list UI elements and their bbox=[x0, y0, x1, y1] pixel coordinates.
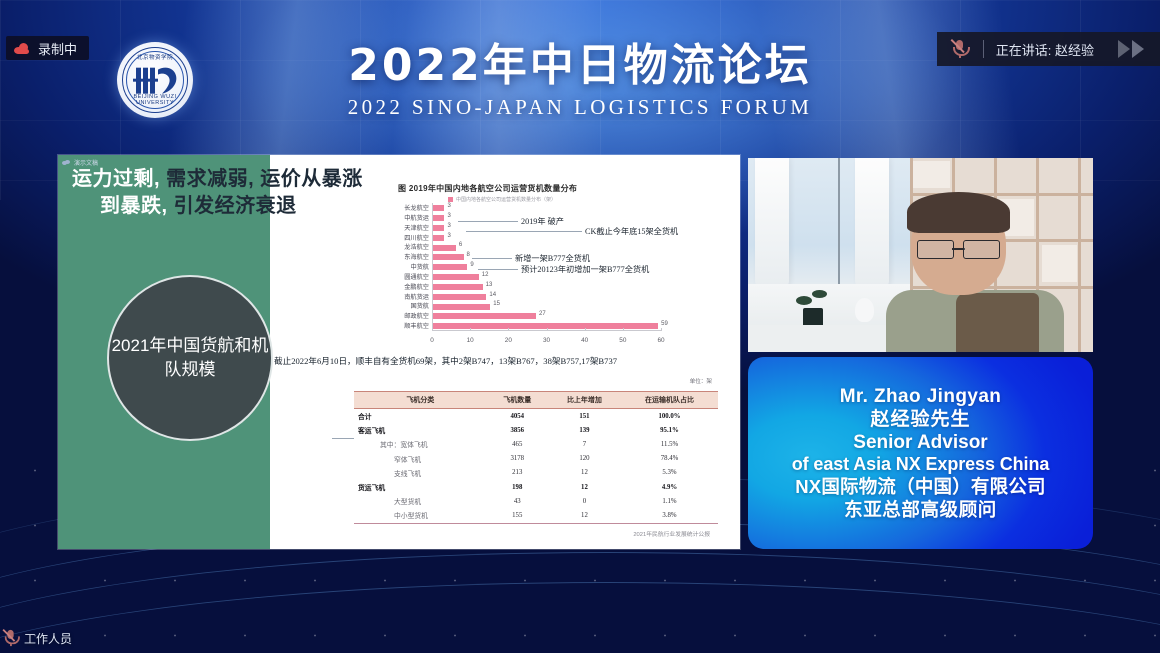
chevron-double-icon[interactable] bbox=[1108, 40, 1160, 58]
table-cell-increase: 12 bbox=[548, 466, 621, 480]
eyeglasses bbox=[917, 240, 1000, 257]
slide-headline: 运力过剩, 需求减弱, 运价从暴涨 到暴跌, 引发经济衰退 bbox=[72, 166, 722, 220]
chart-x-tick: 0 bbox=[430, 337, 434, 344]
col-header-share: 在运输机队占比 bbox=[621, 392, 718, 409]
chart-bar bbox=[433, 313, 536, 319]
window-mullion bbox=[838, 158, 840, 286]
staff-label: 工作人员 bbox=[24, 630, 72, 647]
curtain bbox=[855, 158, 889, 294]
chart-category-label: 南航货运 bbox=[331, 292, 429, 301]
recording-indicator[interactable]: 录制中 bbox=[6, 36, 89, 60]
chart-category-label: 龙浩航空 bbox=[331, 242, 429, 251]
participant-video-tile[interactable] bbox=[748, 158, 1093, 352]
speaker-org-cn: NX国际物流（中国）有限公司 bbox=[792, 476, 1050, 499]
chart-category-label: 天津航空 bbox=[331, 223, 429, 232]
table-header-row: 飞机分类 飞机数量 比上年增加 在运输机队占比 bbox=[354, 392, 718, 409]
chart-category-label: 中货航 bbox=[331, 262, 429, 271]
emblem-mark-icon bbox=[133, 64, 177, 98]
circle-text: 2021年中国货航和机队规模 bbox=[109, 334, 271, 382]
chart-x-tick: 10 bbox=[467, 337, 474, 344]
col-header-count: 飞机数量 bbox=[487, 392, 548, 409]
slide-sub-note: 截止2022年6月10日，顺丰自有全货机69架，其中2架B747，13架B767… bbox=[274, 355, 617, 367]
chart-bar bbox=[433, 264, 467, 270]
university-emblem: 北京物资学院 BEIJING WUZI UNIVERSITY bbox=[117, 42, 193, 118]
table-row: 其中：宽体飞机465711.5% bbox=[354, 437, 718, 451]
chart-category-label: 邮政航空 bbox=[331, 311, 429, 320]
chart-x-tick: 50 bbox=[619, 337, 626, 344]
chart-bar bbox=[433, 284, 483, 290]
chart-bar bbox=[433, 235, 444, 241]
speaker-name-cn: 赵经验先生 bbox=[792, 408, 1050, 431]
chart-value-label: 8 bbox=[464, 252, 470, 258]
chart-value-label: 12 bbox=[479, 272, 489, 278]
chart-value-label: 14 bbox=[486, 292, 496, 298]
chart-value-label: 13 bbox=[483, 282, 493, 288]
participant-person bbox=[886, 197, 1093, 352]
microphone-muted-icon bbox=[5, 630, 17, 646]
chart-value-label: 6 bbox=[456, 242, 462, 248]
table-cell-share: 4.9% bbox=[621, 480, 718, 494]
chart-x-tick: 60 bbox=[657, 337, 664, 344]
chart-category-label: 金鹏航空 bbox=[331, 282, 429, 291]
table-cell-increase: 7 bbox=[548, 437, 621, 451]
chart-x-tick: 20 bbox=[505, 337, 512, 344]
active-speaker-label: 正在讲话: 赵经验 bbox=[984, 40, 1108, 59]
recording-label: 录制中 bbox=[38, 39, 77, 58]
table-cell-share: 1.1% bbox=[621, 494, 718, 508]
chart-category-label: 四川航空 bbox=[331, 233, 429, 242]
curtain bbox=[755, 158, 789, 294]
chart-value-label: 27 bbox=[536, 311, 546, 317]
table-cell-count: 465 bbox=[487, 437, 548, 451]
slide-source-note: 2021年民航行业发展统计公报 bbox=[633, 529, 710, 538]
chart-category-label: 顺丰航空 bbox=[331, 321, 429, 330]
callout-expected-b777: 预计20123年初增加一架B777全货机 bbox=[521, 263, 649, 275]
chart-category-label: 东海航空 bbox=[331, 252, 429, 261]
col-header-category: 飞机分类 bbox=[354, 392, 487, 409]
table-cell-name: 大型货机 bbox=[354, 494, 487, 508]
chart-value-label: 59 bbox=[658, 321, 668, 327]
table-cell-name: 中小型货机 bbox=[354, 508, 487, 523]
headline-part4: 引发经济衰退 bbox=[168, 195, 297, 217]
table-unit-note: 单位：架 bbox=[690, 377, 712, 385]
chart-bar bbox=[433, 294, 486, 300]
table-cell-name: 合计 bbox=[354, 409, 487, 424]
chart-bar bbox=[433, 304, 490, 310]
table-row: 支线飞机213125.3% bbox=[354, 466, 718, 480]
chart-bar-row: 邮政航空27 bbox=[433, 313, 662, 319]
cloud-icon bbox=[62, 160, 70, 165]
chart-bar-row: 国货航15 bbox=[433, 304, 662, 310]
speaker-name-card: Mr. Zhao Jingyan 赵经验先生 Senior Advisor of… bbox=[748, 357, 1093, 549]
vase bbox=[855, 298, 874, 322]
table-cell-count: 3178 bbox=[487, 452, 548, 466]
table-row: 货运飞机198124.9% bbox=[354, 480, 718, 494]
chart-x-tick-mark bbox=[470, 328, 471, 331]
chart-bar bbox=[433, 254, 464, 260]
slide-chip: 演示文稿 bbox=[62, 158, 98, 167]
table-cell-count: 155 bbox=[487, 508, 548, 523]
chart-bar bbox=[433, 245, 456, 251]
cloud-record-icon bbox=[14, 43, 30, 54]
active-speaker-indicator[interactable]: 正在讲话: 赵经验 bbox=[937, 32, 1160, 66]
table-cell-share: 5.3% bbox=[621, 466, 718, 480]
zoom-meeting-screen: 录制中 正在讲话: 赵经验 北京物资学院 BEIJING WUZI UNIVER… bbox=[0, 0, 1160, 653]
potted-plant bbox=[796, 278, 832, 330]
callout-leader bbox=[472, 258, 512, 259]
chart-category-label: 国货航 bbox=[331, 301, 429, 310]
speaker-name-en: Mr. Zhao Jingyan bbox=[792, 385, 1050, 408]
table-cell-share: 95.1% bbox=[621, 423, 718, 437]
chart-x-tick-mark bbox=[623, 328, 624, 331]
slide-circle-label: 2021年中国货航和机队规模 bbox=[107, 275, 273, 441]
chart-bar-row: 龙浩航空6 bbox=[433, 245, 662, 251]
table-cell-increase: 139 bbox=[548, 423, 621, 437]
table-cell-share: 78.4% bbox=[621, 452, 718, 466]
chart-x-tick-mark bbox=[432, 328, 433, 331]
speaker-org-en: of east Asia NX Express China bbox=[792, 454, 1050, 476]
table-cell-increase: 12 bbox=[548, 508, 621, 523]
callout-leader bbox=[332, 438, 354, 439]
table-row: 大型货机4301.1% bbox=[354, 494, 718, 508]
fleet-stats-table: 飞机分类 飞机数量 比上年增加 在运输机队占比 合计4054151100.0%客… bbox=[354, 391, 718, 524]
callout-leader bbox=[458, 221, 518, 222]
chart-x-tick: 30 bbox=[543, 337, 550, 344]
emblem-top-text: 北京物资学院 bbox=[117, 53, 193, 61]
chart-value-label: 9 bbox=[467, 262, 473, 268]
col-header-increase: 比上年增加 bbox=[548, 392, 621, 409]
chart-x-tick: 40 bbox=[581, 337, 588, 344]
table-cell-count: 213 bbox=[487, 466, 548, 480]
slide-chip-label: 演示文稿 bbox=[74, 158, 98, 167]
table-cell-increase: 0 bbox=[548, 494, 621, 508]
callout-leader bbox=[478, 269, 518, 270]
table-cell-increase: 151 bbox=[548, 409, 621, 424]
chart-value-label: 3 bbox=[444, 223, 450, 229]
chart-x-tick-mark bbox=[508, 328, 509, 331]
chart-bar-row: 顺丰航空59 bbox=[433, 323, 662, 329]
table-row: 客运飞机385613995.1% bbox=[354, 423, 718, 437]
shared-slide[interactable]: 演示文稿 运力过剩, 需求减弱, 运价从暴涨 到暴跌, 引发经济衰退 2021年… bbox=[58, 155, 740, 549]
chart-x-tick-mark bbox=[547, 328, 548, 331]
staff-indicator[interactable]: 工作人员 bbox=[4, 629, 72, 647]
table-cell-name: 客运飞机 bbox=[354, 423, 487, 437]
chart-x-tick-mark bbox=[585, 328, 586, 331]
chart-value-label: 3 bbox=[444, 233, 450, 239]
table-row: 窄体飞机317812078.4% bbox=[354, 452, 718, 466]
table-cell-share: 3.8% bbox=[621, 508, 718, 523]
table-row: 中小型货机155123.8% bbox=[354, 508, 718, 523]
table-cell-increase: 12 bbox=[548, 480, 621, 494]
table-cell-name: 窄体飞机 bbox=[354, 452, 487, 466]
microphone-muted-icon bbox=[937, 40, 983, 58]
chart-bar bbox=[433, 225, 444, 231]
chart-bar-row: 南航货运14 bbox=[433, 294, 662, 300]
table-cell-share: 100.0% bbox=[621, 409, 718, 424]
headline-part2: 需求减弱, 运价从暴涨 bbox=[160, 168, 363, 190]
callout-ck-fleet: CK截止今年底15架全货机 bbox=[585, 225, 678, 237]
table-cell-count: 198 bbox=[487, 480, 548, 494]
speaker-title-cn: 东亚总部高级顾问 bbox=[792, 499, 1050, 522]
table-cell-name: 货运飞机 bbox=[354, 480, 487, 494]
speaker-title-en: Senior Advisor bbox=[792, 431, 1050, 454]
table-cell-name: 其中：宽体飞机 bbox=[354, 437, 487, 451]
table-cell-count: 4054 bbox=[487, 409, 548, 424]
chart-category-label: 圆通航空 bbox=[331, 272, 429, 281]
table-cell-share: 11.5% bbox=[621, 437, 718, 451]
chart-value-label: 15 bbox=[490, 301, 500, 307]
table-cell-count: 3856 bbox=[487, 423, 548, 437]
chart-bar bbox=[433, 274, 479, 280]
callout-leader bbox=[466, 231, 582, 232]
chart-bar-row: 金鹏航空13 bbox=[433, 284, 662, 290]
table-cell-increase: 120 bbox=[548, 452, 621, 466]
chart-x-tick-mark bbox=[661, 328, 662, 331]
headline-part3: 到暴跌, bbox=[100, 195, 168, 217]
table-row: 合计4054151100.0% bbox=[354, 409, 718, 424]
table-cell-name: 支线飞机 bbox=[354, 466, 487, 480]
headline-part1: 运力过剩, bbox=[72, 168, 160, 190]
table-cell-count: 43 bbox=[487, 494, 548, 508]
